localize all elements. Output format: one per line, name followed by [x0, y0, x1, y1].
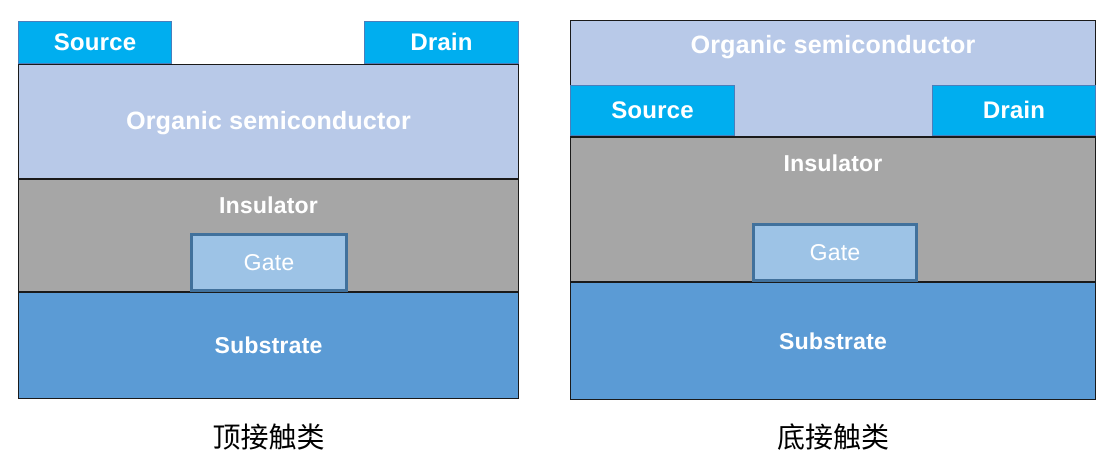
top-contact-substrate-layer: Substrate: [18, 292, 519, 399]
bottom-contact-drain-electrode: Drain: [932, 85, 1096, 136]
top-contact-caption: 顶接触类: [18, 416, 519, 456]
organic-thin-film-transistor-diagram: Source Drain Organic semiconductor Insul…: [0, 0, 1111, 466]
bottom-contact-substrate-layer: Substrate: [570, 282, 1096, 400]
bottom-contact-caption: 底接触类: [570, 416, 1096, 456]
bottom-contact-source-electrode: Source: [570, 85, 735, 136]
bottom-contact-gate-electrode: Gate: [752, 223, 918, 282]
top-contact-source-electrode: Source: [18, 21, 172, 64]
top-contact-drain-electrode: Drain: [364, 21, 519, 64]
top-contact-organic-semiconductor-layer: Organic semiconductor: [18, 64, 519, 179]
top-contact-gate-electrode: Gate: [190, 233, 348, 292]
